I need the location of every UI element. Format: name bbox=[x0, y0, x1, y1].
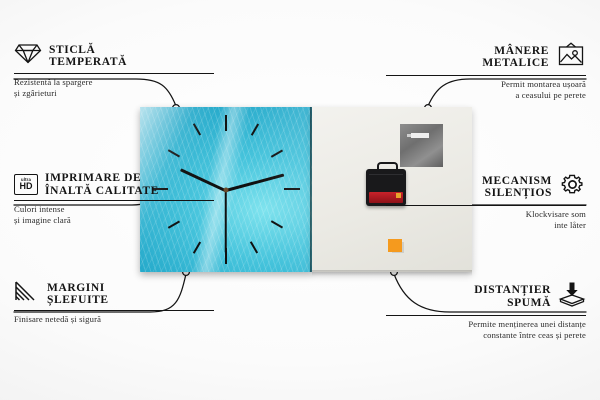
hanger-slot bbox=[411, 133, 429, 138]
callout-sticla-temperata: STICLĂ TEMPERATĂ Rezistentă la spargere … bbox=[14, 42, 214, 98]
polished-edge-icon bbox=[14, 281, 40, 307]
callout-manere-metalice: MÂNERE METALICE Permit montarea ușoară a… bbox=[386, 42, 586, 100]
callout-subtitle: Finisare netedă și sigură bbox=[14, 314, 214, 325]
diamond-icon bbox=[14, 42, 42, 70]
callout-title: MECANISM SILENȚIOS bbox=[482, 175, 552, 200]
callout-title: IMPRIMARE DE ÎNALTĂ CALITATE bbox=[45, 172, 159, 197]
callout-subtitle: Klockvisare som inte låter bbox=[386, 209, 586, 230]
callout-title: MARGINI ȘLEFUITE bbox=[47, 282, 109, 307]
picture-hanger-icon bbox=[556, 42, 586, 72]
callout-header: ultra HD IMPRIMARE DE ÎNALTĂ CALITATE bbox=[14, 172, 214, 197]
clock-center-pin bbox=[224, 187, 229, 192]
callout-title: DISTANȚIER SPUMĂ bbox=[474, 284, 551, 309]
infographic-canvas: STICLĂ TEMPERATĂ Rezistentă la spargere … bbox=[0, 0, 600, 400]
callout-rule bbox=[386, 205, 586, 206]
callout-subtitle: Permit montarea ușoară a ceasului pe per… bbox=[386, 79, 586, 100]
callout-rule bbox=[386, 75, 586, 76]
callout-header: STICLĂ TEMPERATĂ bbox=[14, 42, 214, 70]
callout-rule bbox=[14, 310, 214, 311]
callout-rule bbox=[14, 73, 214, 74]
foam-spacer-icon bbox=[558, 281, 586, 312]
callout-subtitle: Culori intense și imagine clară bbox=[14, 204, 214, 225]
gear-icon bbox=[559, 172, 586, 202]
callout-title: STICLĂ TEMPERATĂ bbox=[49, 44, 127, 69]
callout-mecanism-silentios: MECANISM SILENȚIOS Klockvisare som inte … bbox=[386, 172, 586, 230]
callout-header: DISTANȚIER SPUMĂ bbox=[386, 281, 586, 312]
callout-header: MÂNERE METALICE bbox=[386, 42, 586, 72]
ultra-hd-icon: ultra HD bbox=[14, 174, 38, 195]
metal-hanger-plate bbox=[400, 124, 443, 167]
callout-title: MÂNERE METALICE bbox=[482, 45, 549, 70]
callout-rule bbox=[14, 200, 214, 201]
callout-header: MECANISM SILENȚIOS bbox=[386, 172, 586, 202]
callout-rule bbox=[386, 315, 586, 316]
callout-margini-slefuite: MARGINI ȘLEFUITE Finisare netedă și sigu… bbox=[14, 281, 214, 325]
callout-imprimare-hd: ultra HD IMPRIMARE DE ÎNALTĂ CALITATE Cu… bbox=[14, 172, 214, 225]
callout-subtitle: Permite menținerea unei distanțe constan… bbox=[386, 319, 586, 340]
callout-header: MARGINI ȘLEFUITE bbox=[14, 281, 214, 307]
callout-distantier-spuma: DISTANȚIER SPUMĂ Permite menținerea unei… bbox=[386, 281, 586, 340]
callout-subtitle: Rezistentă la spargere și zgârieturi bbox=[14, 77, 214, 98]
foam-spacer bbox=[388, 239, 402, 252]
